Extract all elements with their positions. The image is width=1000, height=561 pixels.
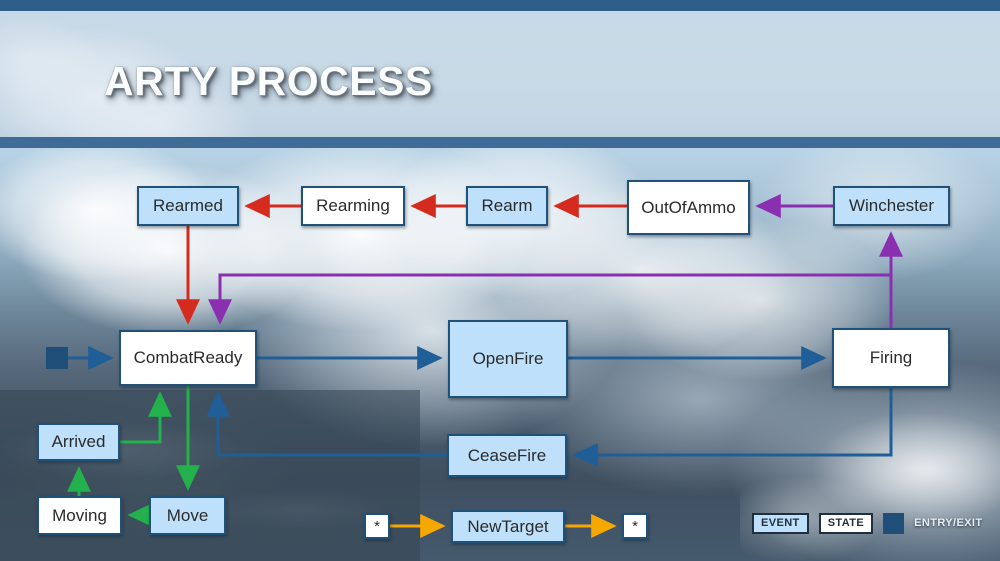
- node-rearm[interactable]: Rearm: [466, 186, 548, 226]
- node-moving[interactable]: Moving: [37, 496, 122, 535]
- legend: EVENT STATE ENTRY/EXIT: [752, 512, 983, 534]
- legend-entry-exit-label: ENTRY/EXIT: [914, 517, 982, 529]
- legend-event-swatch: EVENT: [752, 513, 809, 534]
- node-wildcard-target[interactable]: *: [622, 513, 648, 539]
- node-rearmed[interactable]: Rearmed: [137, 186, 239, 226]
- entry-point-marker[interactable]: [46, 347, 68, 369]
- node-combatready[interactable]: CombatReady: [119, 330, 257, 386]
- legend-state-swatch: STATE: [819, 513, 873, 534]
- node-firing[interactable]: Firing: [832, 328, 950, 388]
- edge-firing-to-ceasefire: [575, 388, 891, 455]
- node-outofammo[interactable]: OutOfAmmo: [627, 180, 750, 235]
- node-newtarget[interactable]: NewTarget: [451, 510, 565, 543]
- legend-entry-exit-swatch: [883, 513, 904, 534]
- node-arrived[interactable]: Arrived: [37, 423, 120, 461]
- edge-arrived-to-combatready: [120, 394, 160, 442]
- node-winchester[interactable]: Winchester: [833, 186, 950, 226]
- edge-firing-to-combatready: [220, 275, 891, 322]
- node-rearming[interactable]: Rearming: [301, 186, 405, 226]
- node-wildcard-source[interactable]: *: [364, 513, 390, 539]
- slide-canvas: ARTY PROCESS: [0, 0, 1000, 561]
- node-ceasefire[interactable]: CeaseFire: [447, 434, 567, 477]
- node-move[interactable]: Move: [149, 496, 226, 535]
- edge-ceasefire-to-combatready: [218, 394, 447, 455]
- node-openfire[interactable]: OpenFire: [448, 320, 568, 398]
